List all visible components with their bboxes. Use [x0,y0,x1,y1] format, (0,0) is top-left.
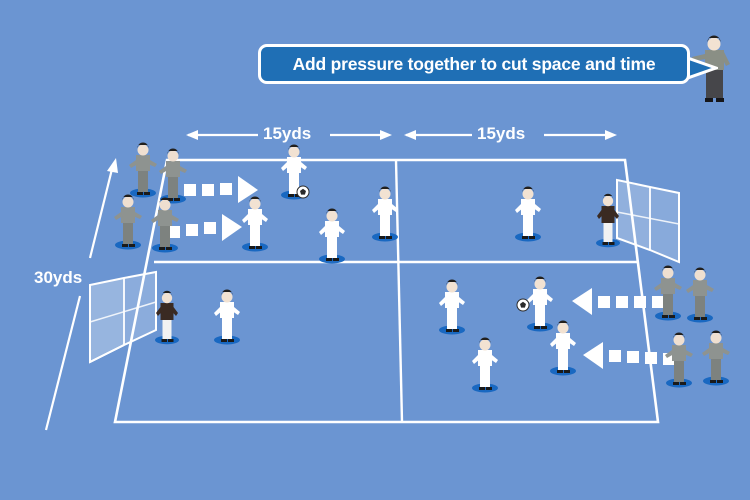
player-icon-grey-5 [654,266,682,321]
dimension-label-top-left: 15yds [263,124,311,144]
arrow-right-icon-upper-left [184,176,258,203]
goal-net-icon-left [90,272,156,362]
soccer-ball-icon-2 [517,299,529,311]
player-icon-grey-3 [114,195,142,250]
dimension-label-side: 30yds [34,268,82,288]
player-icon-white-6 [439,280,465,335]
soccer-ball-icon-1 [297,186,309,198]
player-icon-white-10 [214,290,240,345]
instruction-text: Add pressure together to cut space and t… [293,54,656,75]
player-icon-white-8 [550,321,576,376]
arrow-left-icon-lower-right [583,342,675,369]
player-icon-white-2 [242,197,268,252]
dimension-label-top-right: 15yds [477,124,525,144]
player-icon-white-7 [527,277,553,332]
pitch-center-line [396,160,402,422]
arrow-left-icon-upper-right [572,288,664,315]
player-icon-white-4 [372,187,398,242]
drill-diagram: Add pressure together to cut space and t… [0,0,750,500]
instruction-callout: Add pressure together to cut space and t… [258,44,690,84]
goal-net-icon-right [617,180,679,262]
player-icon-white-9 [472,338,498,393]
player-icon-grey-8 [702,331,730,386]
player-icon-white-5 [515,187,541,242]
player-icon-white-3 [319,209,345,264]
player-icon-grey-1 [129,143,157,198]
player-icon-keeper-left [155,291,179,344]
player-icon-grey-6 [686,268,714,323]
arrow-right-icon-lower-left [168,214,242,241]
